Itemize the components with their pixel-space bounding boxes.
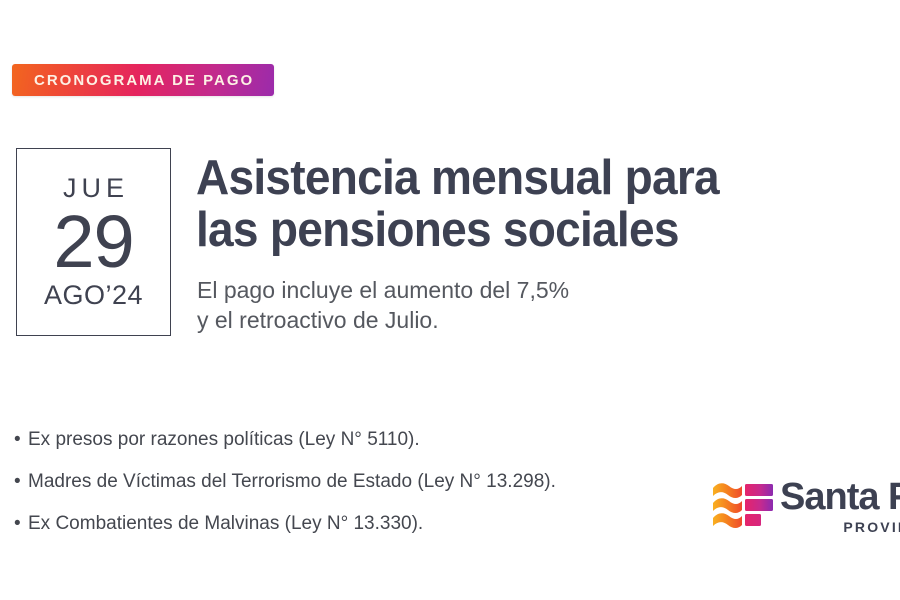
bullet-dot-icon: • [14,470,28,494]
subtitle-line-2: y el retroactivo de Julio. [197,305,757,335]
beneficiary-list: • Ex presos por razones políticas (Ley N… [14,428,714,553]
bullet-dot-icon: • [14,512,28,536]
date-weekday: JUE [58,175,129,202]
date-card: JUE 29 AGO’24 [16,148,171,336]
headline-line-1: Asistencia mensual para [196,153,798,205]
headline: Asistencia mensual para las pensiones so… [196,153,836,257]
cronograma-badge-label: CRONOGRAMA DE PAGO [34,73,254,88]
santa-fe-wordmark: Santa F [780,478,900,516]
list-item: • Ex presos por razones políticas (Ley N… [14,428,714,452]
subtitle: El pago incluye el aumento del 7,5% y el… [197,275,757,336]
list-item-label: Ex Combatientes de Malvinas (Ley N° 13.3… [28,512,714,536]
list-item-label: Madres de Víctimas del Terrorismo de Est… [28,470,714,494]
poster-canvas: CRONOGRAMA DE PAGO JUE 29 AGO’24 Asisten… [0,0,900,600]
date-day-number: 29 [53,206,133,279]
list-item: • Madres de Víctimas del Terrorismo de E… [14,470,714,494]
bullet-dot-icon: • [14,428,28,452]
subtitle-line-1: El pago incluye el aumento del 7,5% [197,275,757,305]
headline-line-2: las pensiones sociales [196,205,798,257]
list-item: • Ex Combatientes de Malvinas (Ley N° 13… [14,512,714,536]
santa-fe-wordmark-block: Santa F PROVIN [780,476,900,534]
santa-fe-logo-mark-icon [712,478,774,533]
date-month-year: AGO’24 [44,282,143,309]
santa-fe-subtext: PROVIN [780,520,900,534]
santa-fe-logo: Santa F PROVIN [712,476,900,538]
cronograma-badge: CRONOGRAMA DE PAGO [12,64,274,96]
list-item-label: Ex presos por razones políticas (Ley N° … [28,428,714,452]
